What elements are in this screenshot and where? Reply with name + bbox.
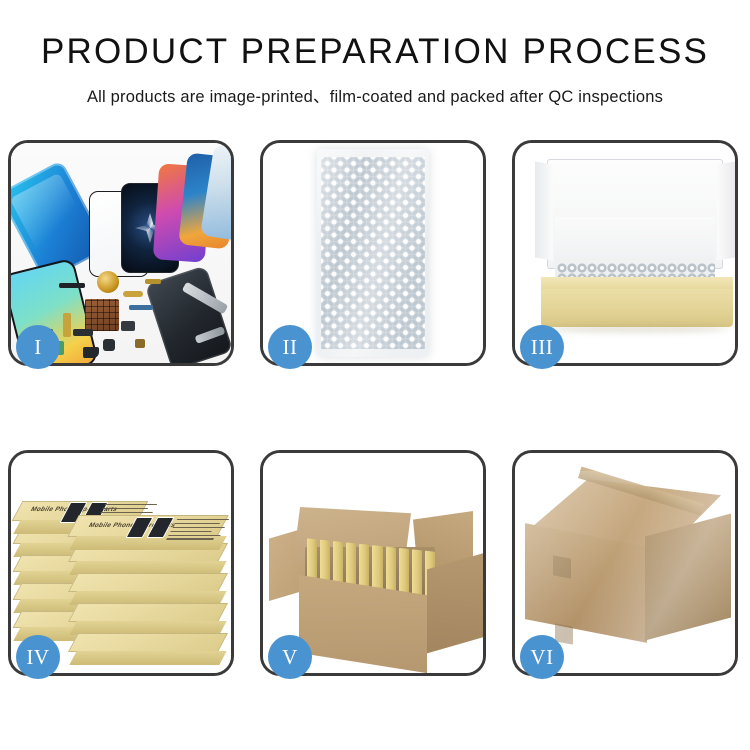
step-badge-6: VI: [520, 635, 564, 679]
component-icon: [73, 329, 93, 336]
process-step-panel-4: Mobile Phone Spare Parts: [8, 450, 234, 676]
header: PRODUCT PREPARATION PROCESS All products…: [0, 0, 750, 107]
process-step-panel-3: III: [512, 140, 738, 366]
chip-board-icon: [85, 299, 119, 331]
component-icon: [145, 279, 161, 284]
carton-handle-notch-icon: [553, 555, 571, 578]
page-subtitle: All products are image-printed、film-coat…: [0, 83, 750, 107]
component-icon: [135, 339, 145, 348]
carton-right-panel-icon: [427, 553, 483, 654]
process-step-panel-5: V: [260, 450, 486, 676]
kraft-box-base-icon: [541, 287, 733, 327]
process-step-panel-6: VI: [512, 450, 738, 676]
component-icon: [83, 347, 99, 358]
product-preparation-infographic: PRODUCT PREPARATION PROCESS All products…: [0, 0, 750, 750]
component-icon: [129, 305, 153, 310]
step-badge-2: II: [268, 325, 312, 369]
process-step-panel-2: II: [260, 140, 486, 366]
component-icon: [103, 339, 115, 351]
component-icon: [121, 321, 135, 331]
step-badge-5: V: [268, 635, 312, 679]
page-title: PRODUCT PREPARATION PROCESS: [0, 34, 750, 69]
step-badge-3: III: [520, 325, 564, 369]
copper-coil-icon: [97, 271, 119, 293]
step-badge-4: IV: [16, 635, 60, 679]
process-step-panel-1: I: [8, 140, 234, 366]
carton-right-panel-icon: [645, 513, 731, 640]
step-badge-1: I: [16, 325, 60, 369]
component-icon: [59, 283, 85, 288]
process-step-grid: I II III: [8, 140, 742, 676]
component-icon: [63, 313, 71, 337]
component-icon: [123, 291, 143, 297]
